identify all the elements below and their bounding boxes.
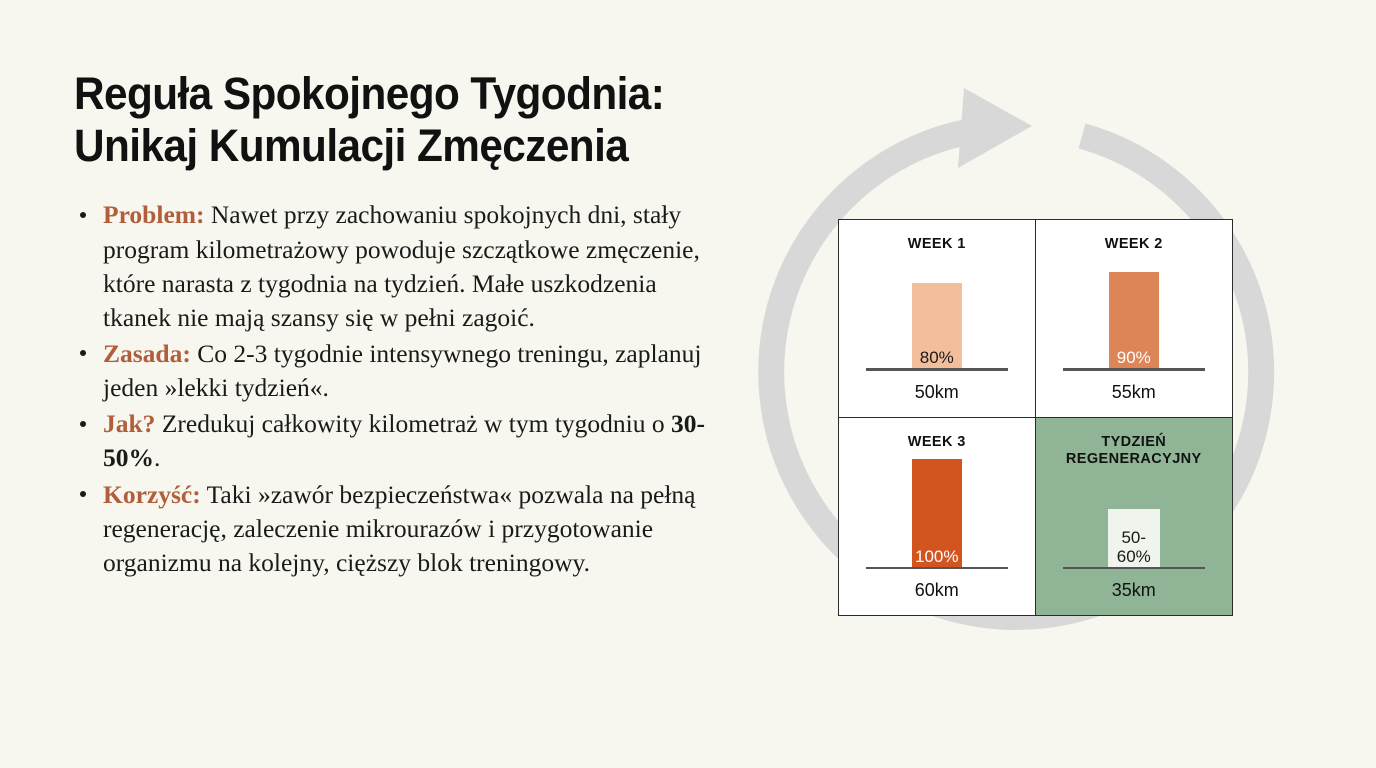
bullet-lead-label: Korzyść:	[103, 480, 201, 509]
bar-value-label: 50- 60%	[1117, 528, 1151, 569]
bar-week-2: 90%	[1109, 272, 1159, 371]
week-cell-3: WEEK 3 100% 60km	[839, 418, 1036, 616]
bullet-body-text-tail: .	[154, 443, 160, 472]
bullet-lead-label: Zasada:	[103, 339, 191, 368]
week-cell-1: WEEK 1 80% 50km	[839, 220, 1036, 418]
distance-label: 60km	[839, 580, 1035, 601]
bullet-lead-label: Problem:	[103, 200, 205, 229]
list-item: Korzyść: Taki »zawór bezpieczeństwa« poz…	[74, 478, 724, 580]
page-title-line-2: Unikaj Kumulacji Zmęczenia	[74, 120, 685, 172]
distance-label: 50km	[839, 382, 1035, 403]
bullet-lead-label: Jak?	[103, 409, 155, 438]
week-grid: WEEK 1 80% 50km WEEK 2 90%	[838, 219, 1233, 616]
bullet-body-text: Zredukuj całkowity kilometraż w tym tygo…	[155, 409, 671, 438]
bar-area: 80% 50km	[839, 220, 1035, 417]
slide: Reguła Spokojnego Tygodnia: Unikaj Kumul…	[0, 0, 1376, 768]
list-item: Problem: Nawet przy zachowaniu spokojnyc…	[74, 198, 724, 335]
bullet-dot-icon	[80, 421, 86, 427]
bullet-dot-icon	[80, 350, 86, 356]
content-column: Reguła Spokojnego Tygodnia: Unikaj Kumul…	[74, 68, 724, 582]
bullet-body-text: Co 2-3 tygodnie intensywnego treningu, z…	[103, 339, 701, 402]
bar-recovery: 50- 60%	[1108, 509, 1160, 569]
bar-area: 100% 60km	[839, 418, 1035, 616]
distance-label: 55km	[1036, 382, 1233, 403]
baseline	[1063, 567, 1205, 570]
week-cell-2: WEEK 2 90% 55km	[1036, 220, 1233, 418]
bullet-dot-icon	[80, 491, 86, 497]
bar-area: 90% 55km	[1036, 220, 1233, 417]
baseline	[1063, 368, 1205, 371]
week-cell-recovery: TYDZIEŃ REGENERACYJNY 50- 60% 35km	[1036, 418, 1233, 616]
bullet-list: Problem: Nawet przy zachowaniu spokojnyc…	[74, 198, 724, 580]
baseline	[866, 567, 1008, 570]
bar-area: 50- 60% 35km	[1036, 418, 1233, 616]
training-cycle-diagram: WEEK 1 80% 50km WEEK 2 90%	[742, 80, 1332, 720]
bullet-dot-icon	[80, 212, 86, 218]
page-title-line-1: Reguła Spokojnego Tygodnia:	[74, 68, 685, 120]
bar-week-3: 100%	[912, 459, 962, 569]
page-title: Reguła Spokojnego Tygodnia: Unikaj Kumul…	[74, 68, 685, 172]
list-item: Zasada: Co 2-3 tygodnie intensywnego tre…	[74, 337, 724, 405]
distance-label: 35km	[1036, 580, 1233, 601]
bar-week-1: 80%	[912, 283, 962, 371]
list-item: Jak? Zredukuj całkowity kilometraż w tym…	[74, 407, 724, 475]
baseline	[866, 368, 1008, 371]
